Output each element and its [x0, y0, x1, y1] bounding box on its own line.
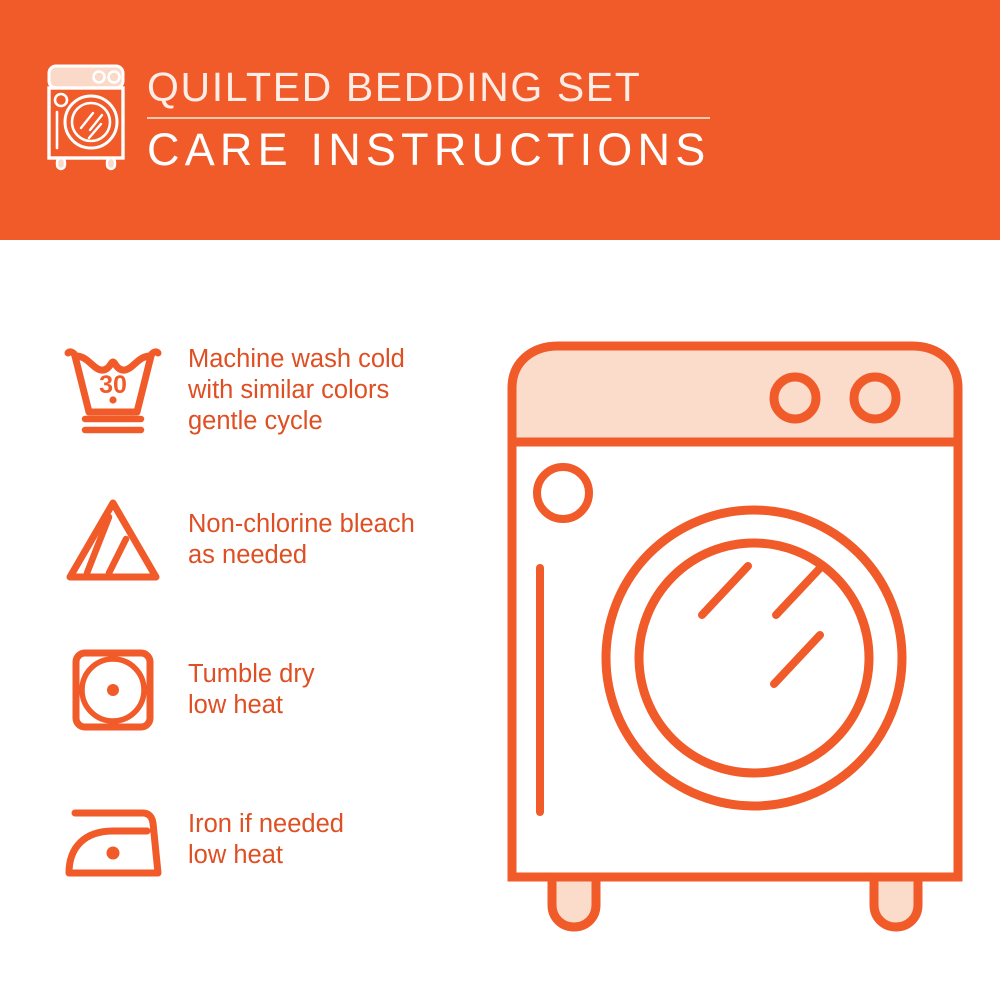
care-text-line: Non-chlorine bleach: [188, 509, 488, 540]
door-outer-ring: [606, 510, 902, 806]
shine-lines: [702, 566, 822, 684]
care-item-bleach-text: Non-chlorine bleach as needed: [178, 480, 488, 600]
care-text-line: low heat: [188, 840, 488, 871]
care-item-machine-wash-text: Machine wash cold with similar colors ge…: [178, 330, 488, 450]
iron-low-heat-symbol: [61, 793, 165, 887]
machine-wash-30-gentle-symbol: 30: [61, 343, 165, 437]
tumble-dry-low-heat-symbol: [61, 643, 165, 737]
header-title-block: QUILTED BEDDING SET CARE INSTRUCTIONS: [147, 62, 710, 175]
wash-temperature-label: 30: [99, 371, 127, 399]
leg-left: [552, 877, 596, 927]
care-item-tumble-dry: Tumble dry low heat: [48, 630, 488, 780]
care-text-line: low heat: [188, 690, 488, 721]
care-item-iron: Iron if needed low heat: [48, 780, 488, 930]
iron-heat-dot: [107, 847, 120, 860]
care-text-line: Iron if needed: [188, 809, 488, 840]
care-text-line: Tumble dry: [188, 659, 488, 690]
page-title: CARE INSTRUCTIONS: [147, 125, 710, 175]
care-instructions-infographic: QUILTED BEDDING SET CARE INSTRUCTIONS 30: [0, 0, 1000, 1000]
care-text-line: Machine wash cold: [188, 344, 488, 375]
care-text-line: as needed: [188, 540, 488, 571]
washing-machine-icon: [45, 62, 129, 172]
care-instruction-list: 30 Machine wash cold with similar colors…: [48, 330, 488, 930]
leg-right: [874, 877, 918, 927]
header-banner: QUILTED BEDDING SET CARE INSTRUCTIONS: [0, 0, 1000, 240]
care-item-tumble-dry-text: Tumble dry low heat: [178, 630, 488, 750]
machine-wash-symbol-wrap: 30: [48, 330, 178, 450]
bleach-symbol-wrap: [48, 480, 178, 600]
tumble-dry-symbol-wrap: [48, 630, 178, 750]
product-title: QUILTED BEDDING SET: [147, 64, 710, 110]
front-load-washing-machine: [490, 330, 980, 950]
wash-heat-dot: [109, 396, 116, 403]
title-divider: [147, 117, 710, 119]
iron-symbol-wrap: [48, 780, 178, 900]
header-content: QUILTED BEDDING SET CARE INSTRUCTIONS: [45, 62, 710, 175]
care-text-line: gentle cycle: [188, 406, 488, 437]
care-item-machine-wash: 30 Machine wash cold with similar colors…: [48, 330, 488, 480]
indicator-light: [537, 467, 589, 519]
dry-heat-dot: [107, 684, 119, 696]
care-text-line: with similar colors: [188, 375, 488, 406]
care-item-bleach: Non-chlorine bleach as needed: [48, 480, 488, 630]
door-inner-ring: [639, 543, 869, 773]
non-chlorine-bleach-symbol: [61, 493, 165, 587]
care-item-iron-text: Iron if needed low heat: [178, 780, 488, 900]
